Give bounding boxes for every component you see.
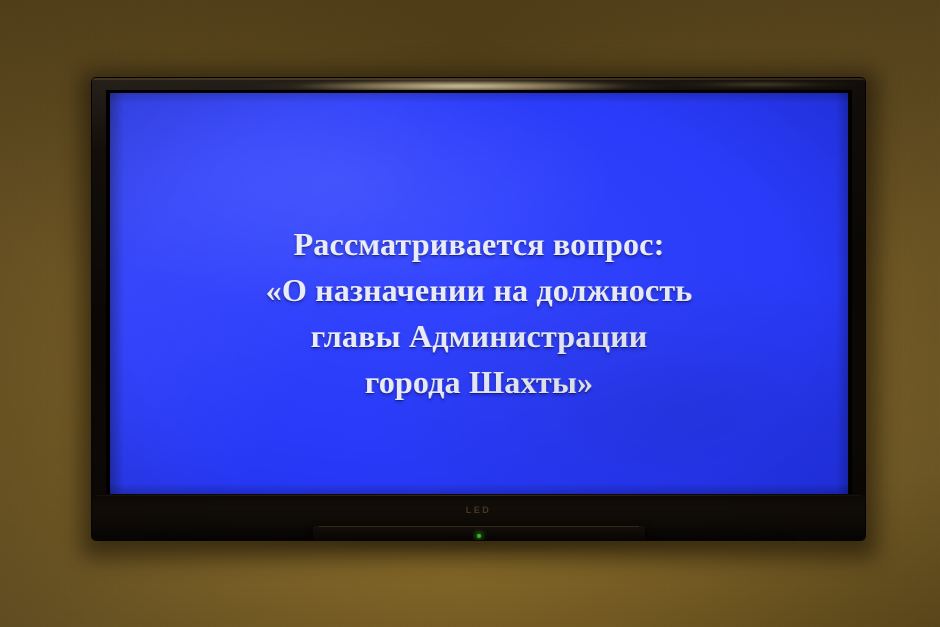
television: Рассматривается вопрос: «О назначении на… [92,78,865,540]
slide-line-2: «О назначении на должность [128,267,830,313]
photo-scene: Рассматривается вопрос: «О назначении на… [0,0,940,627]
chin-highlight-line [96,495,861,496]
slide-line-1: Рассматривается вопрос: [128,221,830,267]
tv-screen[interactable]: Рассматривается вопрос: «О назначении на… [110,93,848,495]
slide-line-3: главы Администрации [128,313,830,359]
bezel-glare-secondary [652,81,865,88]
power-led-indicator [477,534,481,538]
stand-plate-highlight [319,526,639,527]
top-bezel-edge [92,78,865,80]
slide-line-4: города Шахты» [128,359,830,405]
tv-bezel: Рассматривается вопрос: «О назначении на… [92,78,865,540]
tv-brand-logo: LED [466,505,492,515]
presentation-slide: Рассматривается вопрос: «О назначении на… [110,221,848,405]
